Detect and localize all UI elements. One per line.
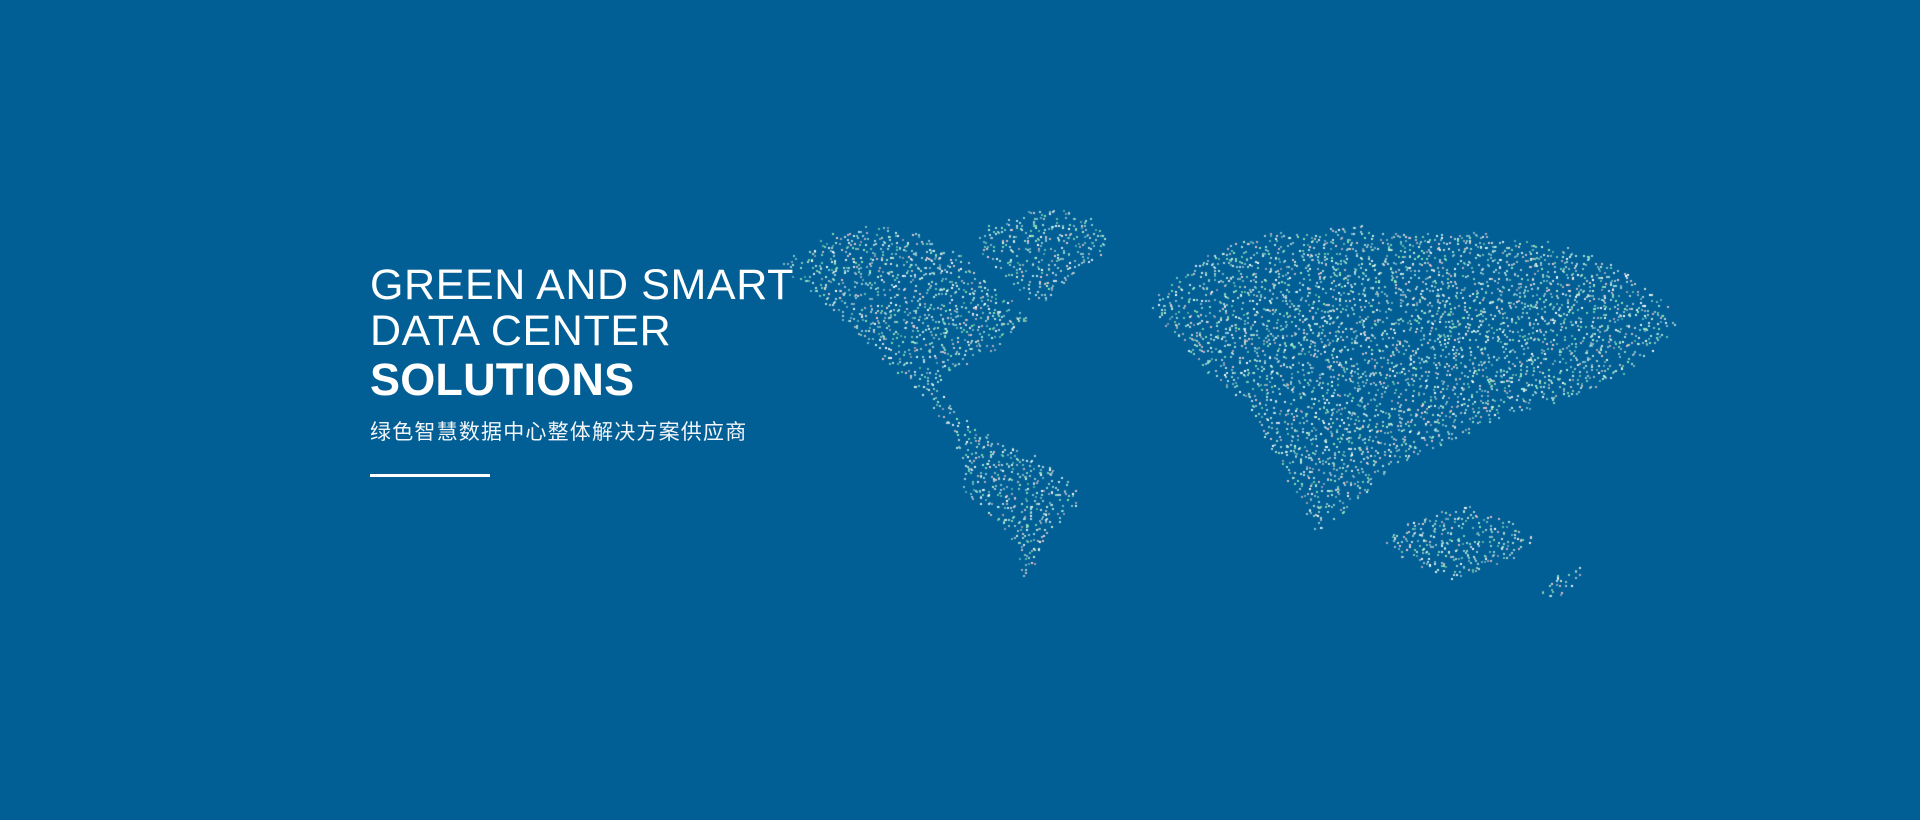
headline-line-1: GREEN AND SMART bbox=[370, 262, 1130, 308]
headline-line-3: SOLUTIONS bbox=[370, 354, 1130, 406]
hero-banner: GREEN AND SMART DATA CENTER SOLUTIONS 绿色… bbox=[0, 0, 1920, 820]
divider-rule bbox=[370, 474, 490, 477]
headline-line-2: DATA CENTER bbox=[370, 308, 1130, 354]
hero-copy-block: GREEN AND SMART DATA CENTER SOLUTIONS 绿色… bbox=[370, 262, 1130, 477]
hero-subtitle: 绿色智慧数据中心整体解决方案供应商 bbox=[370, 418, 1130, 448]
